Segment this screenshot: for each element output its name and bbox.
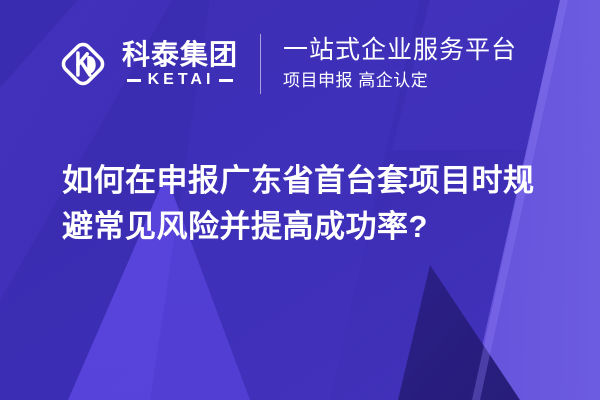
header-divider	[260, 34, 261, 94]
logo-wordmark: 科泰集团 KETAI	[122, 40, 238, 88]
brand-rule-left	[127, 79, 141, 82]
brand-name-en: KETAI	[148, 72, 215, 88]
headline-line-2: 避常见风险并提高成功率?	[62, 204, 562, 250]
tagline-group: 一站式企业服务平台 项目申报 高企认定	[283, 36, 517, 92]
brand-name-en-row: KETAI	[122, 72, 238, 88]
brand-name-cn: 科泰集团	[122, 40, 238, 69]
brand-rule-right	[219, 79, 233, 82]
banner-header: 科泰集团 KETAI 一站式企业服务平台 项目申报 高企认定	[56, 34, 517, 94]
headline-line-1: 如何在申报广东省首台套项目时规	[62, 158, 562, 204]
headline-block: 如何在申报广东省首台套项目时规 避常见风险并提高成功率?	[62, 158, 562, 250]
tagline-main: 一站式企业服务平台	[283, 36, 517, 65]
tagline-sub: 项目申报 高企认定	[283, 70, 517, 92]
promo-banner: 科泰集团 KETAI 一站式企业服务平台 项目申报 高企认定 如何在申报广东省首…	[0, 0, 600, 400]
ketai-diamond-k-logo-icon	[56, 37, 110, 91]
